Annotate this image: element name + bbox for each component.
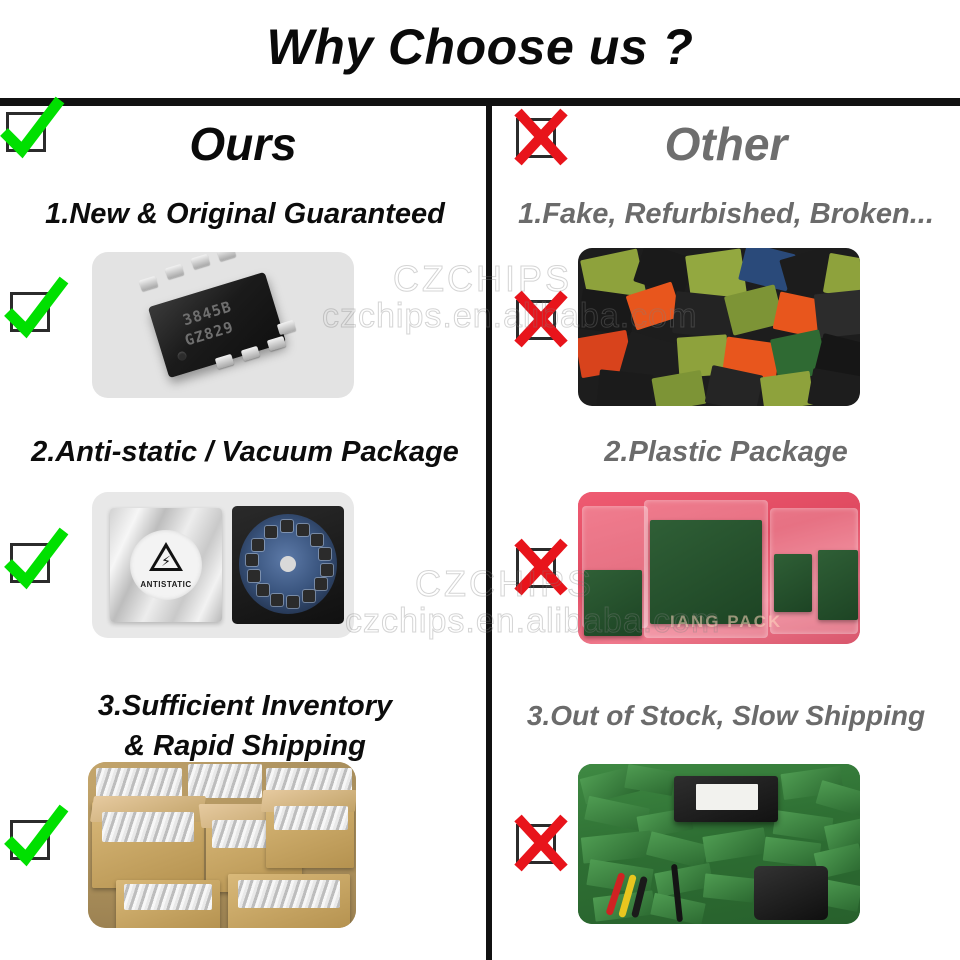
warehouse-boxes-photo <box>88 762 356 928</box>
antistatic-label-text: ANTISTATIC <box>130 580 202 589</box>
antistatic-label-disc: ⚡ ANTISTATIC <box>130 530 202 600</box>
check-glyph <box>2 278 68 344</box>
cross-glyph <box>508 286 574 352</box>
black-module <box>674 776 778 822</box>
cross-mark-icon <box>516 824 560 868</box>
column-header-ours-label: Ours <box>0 108 486 180</box>
check-mark-icon <box>10 820 54 864</box>
black-pad <box>754 866 828 920</box>
page-title: Why Choose us ? <box>0 18 960 76</box>
cross-mark-icon <box>516 118 560 162</box>
cross-glyph <box>508 810 574 876</box>
antistatic-bag: ⚡ ANTISTATIC <box>110 508 222 622</box>
scrap-chips-photo <box>578 248 860 406</box>
row-2-heading-right: 2.Plastic Package <box>492 436 960 469</box>
row-3-heading-left-line-2: & Rapid Shipping <box>10 726 480 766</box>
cross-glyph <box>508 534 574 600</box>
comparison-infographic: Why Choose us ? Ours Other 1.New & Origi… <box>0 0 960 960</box>
cross-glyph <box>508 104 574 170</box>
antistatic-bag-and-reel-photo: ⚡ ANTISTATIC <box>92 492 354 638</box>
cross-mark-icon <box>516 300 560 344</box>
lightning-bolt-icon: ⚡ <box>161 554 171 568</box>
cross-mark-icon <box>516 548 560 592</box>
row-3-heading-left-line-1: 3.Sufficient Inventory <box>10 686 480 726</box>
reel-disc <box>239 514 337 614</box>
module-label <box>696 784 758 810</box>
column-header-ours: Ours <box>0 104 486 182</box>
check-mark-icon <box>10 292 54 336</box>
chip-pin1-dot <box>176 350 187 361</box>
row-1-heading-left: 1.New & Original Guaranteed <box>10 198 480 231</box>
column-divider <box>486 104 492 960</box>
check-mark-icon <box>6 112 50 156</box>
check-glyph <box>2 529 68 595</box>
pack-overlay-text: IANG PACK <box>670 612 782 632</box>
check-glyph <box>2 806 68 872</box>
row-3-heading-right: 3.Out of Stock, Slow Shipping <box>492 700 960 732</box>
reel-hub <box>280 556 296 572</box>
scrap-pcb-pile-photo <box>578 764 860 924</box>
row-1-heading-right: 1.Fake, Refurbished, Broken... <box>492 198 960 231</box>
ic-chip-photo: 3845B GZ829 <box>92 252 354 398</box>
plastic-bag-pcb-photo: IANG PACK <box>578 492 860 644</box>
component-reel <box>232 506 344 624</box>
row-2-heading-left: 2.Anti-static / Vacuum Package <box>10 436 480 469</box>
row-3-heading-left: 3.Sufficient Inventory & Rapid Shipping <box>10 686 480 766</box>
check-mark-icon <box>10 543 54 587</box>
check-glyph <box>0 98 64 164</box>
